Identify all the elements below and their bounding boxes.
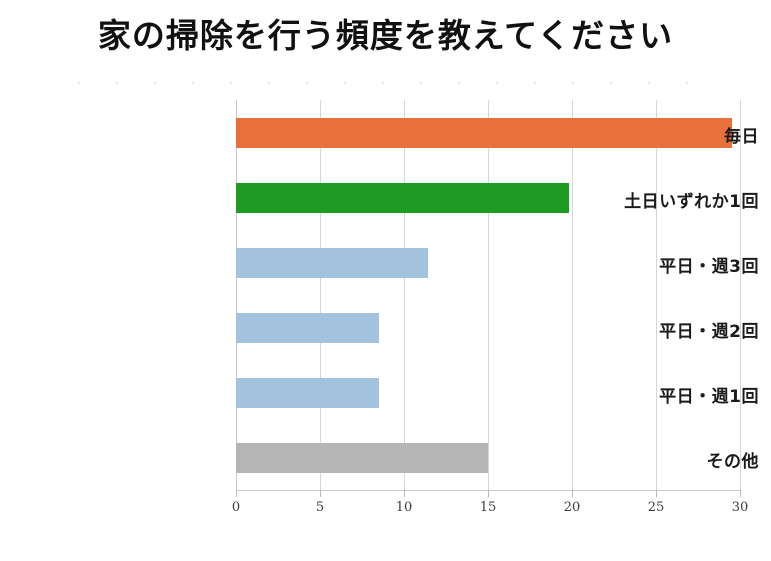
gridline-30 [740, 100, 741, 490]
bar [236, 443, 488, 473]
plot-area [236, 100, 740, 490]
gridline-20 [572, 100, 573, 490]
x-tick-label: 20 [552, 500, 592, 515]
category-label: 平日・週2回 [547, 317, 771, 342]
bar [236, 248, 428, 278]
gridline-25 [656, 100, 657, 490]
decorative-dot-row [60, 80, 710, 86]
x-tick [488, 490, 489, 497]
x-tick-label: 5 [300, 500, 340, 515]
x-tick [740, 490, 741, 497]
gridline-0 [236, 100, 237, 490]
bar [236, 378, 379, 408]
x-tick-label: 30 [720, 500, 760, 515]
category-label: 平日・週3回 [547, 252, 771, 277]
x-tick [320, 490, 321, 497]
chart-title: 家の掃除を行う頻度を教えてください [0, 14, 771, 58]
x-tick [572, 490, 573, 497]
gridline-10 [404, 100, 405, 490]
x-tick-label: 15 [468, 500, 508, 515]
x-tick [236, 490, 237, 497]
gridline-15 [488, 100, 489, 490]
x-tick [404, 490, 405, 497]
bar [236, 183, 569, 213]
category-label: 土日いずれか1回 [547, 187, 771, 212]
category-label: 毎日 [547, 122, 771, 147]
gridline-5 [320, 100, 321, 490]
bar-chart: 家の掃除を行う頻度を教えてください 毎日土日いずれか1回平日・週3回平日・週2回… [0, 0, 771, 561]
x-tick-label: 25 [636, 500, 676, 515]
category-label: 平日・週1回 [547, 382, 771, 407]
x-tick-label: 10 [384, 500, 424, 515]
category-label: その他 [547, 447, 771, 472]
x-tick [656, 490, 657, 497]
bar [236, 313, 379, 343]
x-tick-label: 0 [216, 500, 256, 515]
